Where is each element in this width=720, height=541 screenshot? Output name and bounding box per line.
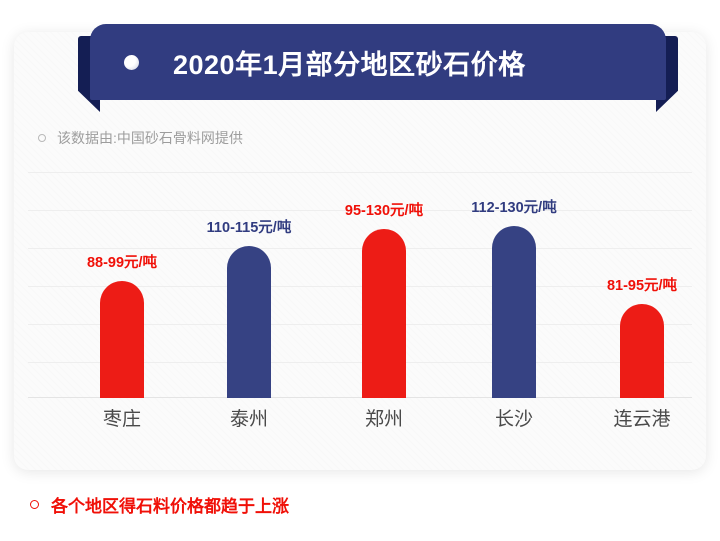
category-label: 泰州 [230,404,268,431]
category-label: 郑州 [365,404,403,431]
bar[interactable] [492,226,536,398]
bar-group[interactable]: 110-115元/吨 [227,212,271,398]
data-source-note: 该数据由:中国砂石骨料网提供 [38,128,243,148]
bar-group[interactable]: 95-130元/吨 [362,195,406,398]
bar-group[interactable]: 81-95元/吨 [620,270,664,398]
category-label: 长沙 [495,404,533,431]
circle-bullet-icon [124,55,139,70]
summary-text: 各个地区得石料价格都趋于上涨 [51,492,289,517]
plot-area: 88-99元/吨110-115元/吨95-130元/吨112-130元/吨81-… [28,168,692,398]
category-label: 枣庄 [103,404,141,431]
bar-group[interactable]: 88-99元/吨 [100,247,144,398]
bar-value-label: 110-115元/吨 [207,216,292,237]
bar-series: 88-99元/吨110-115元/吨95-130元/吨112-130元/吨81-… [28,168,692,398]
bar[interactable] [100,281,144,398]
title-ribbon: 2020年1月部分地区砂石价格 [78,24,678,100]
bar-value-label: 95-130元/吨 [345,199,423,220]
page-title: 2020年1月部分地区砂石价格 [173,43,526,82]
bar-value-label: 112-130元/吨 [471,196,556,217]
chart-page: 2020年1月部分地区砂石价格 该数据由:中国砂石骨料网提供 88-99元/吨1… [0,0,720,541]
circle-outline-icon [30,500,39,509]
category-axis: 枣庄泰州郑州长沙连云港 [28,404,692,440]
bar[interactable] [362,229,406,398]
bar[interactable] [227,246,271,398]
bar[interactable] [620,304,664,398]
bar-group[interactable]: 112-130元/吨 [492,192,536,398]
circle-outline-icon [38,134,46,142]
summary-note: 各个地区得石料价格都趋于上涨 [30,492,289,517]
ribbon-body: 2020年1月部分地区砂石价格 [90,24,666,100]
bar-value-label: 88-99元/吨 [87,251,157,272]
bar-value-label: 81-95元/吨 [607,274,677,295]
category-label: 连云港 [613,404,670,431]
data-source-text: 该数据由:中国砂石骨料网提供 [57,128,243,148]
